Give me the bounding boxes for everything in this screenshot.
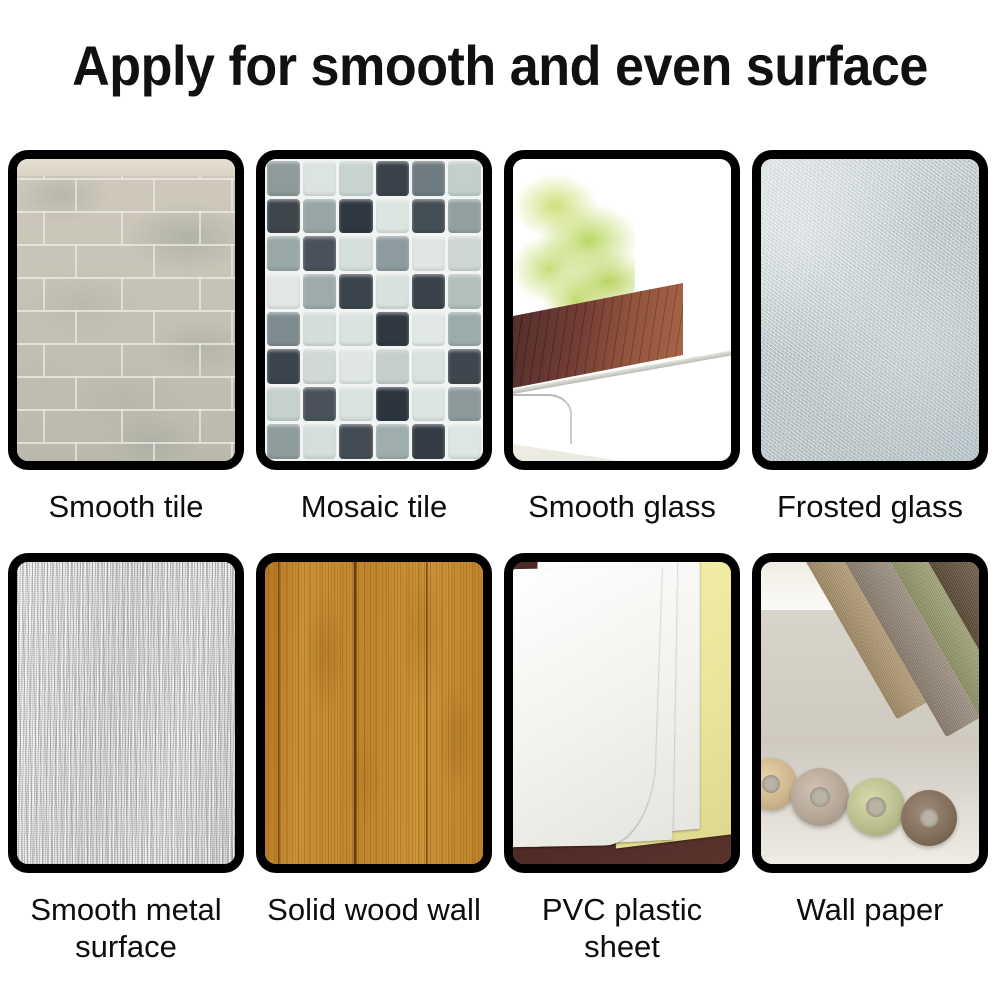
wallpaper-roll-end (901, 790, 957, 846)
photo-frame (504, 150, 740, 470)
stone-top-edge (17, 159, 235, 176)
stone-joint (231, 376, 233, 409)
mosaic-square (448, 424, 481, 459)
mosaic-square (412, 161, 445, 196)
mosaic-square (376, 387, 409, 422)
material-card-smooth-glass[interactable]: Smooth glass (504, 150, 740, 525)
photo-frame (8, 553, 244, 873)
photo-frame (504, 553, 740, 873)
mosaic-square (267, 349, 300, 384)
photo-smooth-glass (513, 159, 731, 461)
stone-joint (231, 244, 233, 277)
stone-joint (153, 310, 155, 343)
stone-joint (231, 310, 233, 343)
mosaic-square (339, 349, 372, 384)
mosaic-square (448, 161, 481, 196)
roll-core-hole (762, 775, 780, 793)
roll-core-hole (920, 809, 939, 828)
stone-course (17, 409, 235, 444)
mosaic-square (412, 349, 445, 384)
stone-joint (75, 244, 77, 277)
stone-joint (231, 442, 233, 461)
metal-speckle (17, 562, 235, 864)
mosaic-square (339, 274, 372, 309)
roll-core-hole (866, 797, 886, 817)
material-card-wall-paper[interactable]: Wall paper (752, 553, 988, 965)
mosaic-square (376, 161, 409, 196)
mosaic-square (339, 161, 372, 196)
brick-pattern (17, 159, 235, 461)
caption-pvc-sheet: PVC plastic sheet (504, 891, 740, 965)
stone-joint (43, 343, 45, 376)
stone-joint (153, 244, 155, 277)
mosaic-square (267, 236, 300, 271)
stone-course (17, 343, 235, 378)
mosaic-square (303, 199, 336, 234)
material-grid: Smooth tile Mosaic tile (8, 150, 992, 965)
material-row-2: Smooth metal surface Solid wood wall (8, 553, 992, 965)
mosaic-square (267, 387, 300, 422)
stone-joint (121, 409, 123, 442)
stone-joint (75, 442, 77, 461)
mosaic-square (303, 236, 336, 271)
mosaic-square (339, 387, 372, 422)
mosaic-square (303, 387, 336, 422)
photo-frame (752, 150, 988, 470)
mosaic-texture (265, 159, 483, 461)
caption-mosaic-tile: Mosaic tile (256, 488, 492, 525)
stone-joint (75, 178, 77, 211)
wallpaper-roll-end (847, 778, 905, 836)
stone-joint (153, 376, 155, 409)
stone-joint (75, 310, 77, 343)
photo-smooth-tile (17, 159, 235, 461)
mosaic-square (448, 199, 481, 234)
mosaic-square (267, 424, 300, 459)
stone-course (17, 442, 235, 461)
caption-smooth-tile: Smooth tile (8, 488, 244, 525)
stone-joint (121, 343, 123, 376)
caption-frosted-glass: Frosted glass (752, 488, 988, 525)
caption-wall-paper: Wall paper (752, 891, 988, 928)
mosaic-square (412, 236, 445, 271)
stone-course (17, 376, 235, 411)
material-card-frosted-glass[interactable]: Frosted glass (752, 150, 988, 525)
balcony-railing (513, 394, 572, 444)
photo-frame (752, 553, 988, 873)
roll-core-hole (810, 787, 830, 807)
material-card-smooth-metal[interactable]: Smooth metal surface (8, 553, 244, 965)
stone-course (17, 211, 235, 246)
stone-joint (199, 409, 201, 442)
window-scene (513, 159, 731, 461)
mosaic-square (303, 349, 336, 384)
stone-joint (43, 277, 45, 310)
mosaic-square (448, 387, 481, 422)
stone-joint (231, 178, 233, 211)
wood-grain-lines (265, 562, 483, 864)
wallpaper-texture (761, 562, 979, 864)
caption-smooth-glass: Smooth glass (504, 488, 740, 525)
mosaic-square (267, 199, 300, 234)
mosaic-square (376, 349, 409, 384)
stone-joint (121, 277, 123, 310)
mosaic-square (339, 424, 372, 459)
stone-joint (199, 277, 201, 310)
material-card-pvc-sheet[interactable]: PVC plastic sheet (504, 553, 740, 965)
wood-plank-seam (426, 562, 428, 864)
wallpaper-roll-end (791, 768, 849, 826)
frosted-sheen (761, 159, 979, 461)
stone-joint (199, 211, 201, 244)
stone-course (17, 178, 235, 213)
stone-course (17, 277, 235, 312)
mosaic-square (339, 236, 372, 271)
mosaic-square (412, 387, 445, 422)
photo-mosaic-tile (265, 159, 483, 461)
photo-pvc-sheet (513, 562, 731, 864)
mosaic-square (303, 312, 336, 347)
photo-frosted-glass (761, 159, 979, 461)
stone-joint (75, 376, 77, 409)
infographic-page: Apply for smooth and even surface Smooth… (0, 0, 1000, 1000)
wood-plank-seam (354, 562, 357, 864)
photo-frame (256, 553, 492, 873)
stone-course (17, 310, 235, 345)
stone-joint (153, 442, 155, 461)
mosaic-square (376, 424, 409, 459)
mosaic-square (412, 199, 445, 234)
mosaic-square (303, 161, 336, 196)
mosaic-square (376, 312, 409, 347)
mosaic-square (448, 349, 481, 384)
caption-solid-wood: Solid wood wall (256, 891, 492, 928)
wood-plank-seam (278, 562, 280, 864)
stone-course (17, 244, 235, 279)
mosaic-square (267, 312, 300, 347)
mosaic-square (267, 161, 300, 196)
caption-smooth-metal: Smooth metal surface (8, 891, 244, 965)
material-card-mosaic-tile[interactable]: Mosaic tile (256, 150, 492, 525)
foreground-bush (513, 159, 635, 316)
stone-joint (43, 409, 45, 442)
mosaic-square (376, 236, 409, 271)
pvc-sheet-1 (513, 567, 662, 848)
photo-wall-paper (761, 562, 979, 864)
material-card-solid-wood[interactable]: Solid wood wall (256, 553, 492, 965)
mosaic-square (448, 274, 481, 309)
mosaic-square (448, 236, 481, 271)
mosaic-square (267, 274, 300, 309)
mosaic-square (339, 199, 372, 234)
mosaic-square (412, 424, 445, 459)
stone-joint (43, 211, 45, 244)
mosaic-square (448, 312, 481, 347)
mosaic-square (376, 199, 409, 234)
photo-frame (8, 150, 244, 470)
photo-solid-wood (265, 562, 483, 864)
mosaic-square (303, 274, 336, 309)
stone-joint (153, 178, 155, 211)
stone-joint (199, 343, 201, 376)
mosaic-square (412, 312, 445, 347)
mosaic-square (303, 424, 336, 459)
page-title: Apply for smooth and even surface (35, 34, 965, 98)
ceiling (513, 444, 648, 461)
material-card-smooth-tile[interactable]: Smooth tile (8, 150, 244, 525)
photo-frame (256, 150, 492, 470)
mosaic-square (376, 274, 409, 309)
mosaic-square (412, 274, 445, 309)
material-row-1: Smooth tile Mosaic tile (8, 150, 992, 525)
photo-smooth-metal (17, 562, 235, 864)
stone-joint (121, 211, 123, 244)
mosaic-square (339, 312, 372, 347)
